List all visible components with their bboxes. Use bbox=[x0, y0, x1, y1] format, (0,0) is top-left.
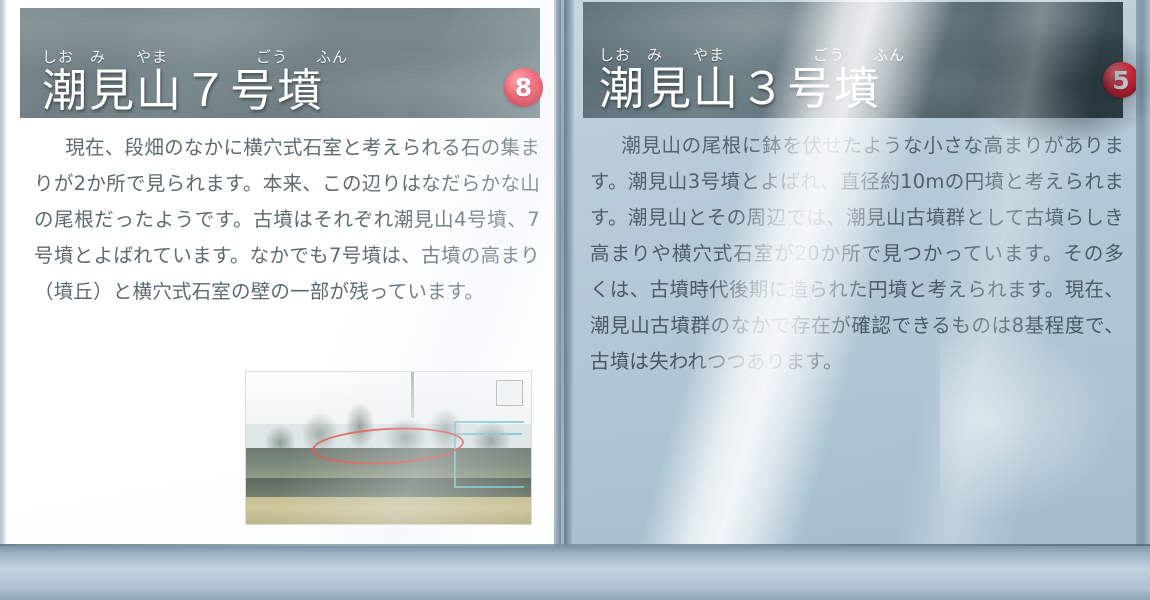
body-paragraph-right: 潮見山の尾根に鉢を伏せたような小さな高まりがあります。潮見山3号墳とよばれ、直径… bbox=[590, 128, 1124, 380]
ruby-shio-left: しお bbox=[42, 46, 90, 67]
signboard-scene: しお み やま ごう ふん 潮見山７号墳 8 現在、段畑のなかに横穴式石室と考え… bbox=[0, 0, 1150, 600]
photo-left-fence-bar bbox=[454, 433, 522, 435]
panel-title-right: 潮見山３号墳 bbox=[599, 66, 913, 112]
ruby-row-right: しお み やま ごう ふん bbox=[599, 45, 913, 65]
ruby-fun-left: ふん bbox=[316, 46, 356, 67]
ruby-gou-right: ごう bbox=[813, 44, 873, 65]
panel-header-right: しお み やま ごう ふん 潮見山３号墳 5 bbox=[583, 2, 1123, 118]
panel-body-right: 潮見山の尾根に鉢を伏せたような小さな高まりがあります。潮見山3号墳とよばれ、直径… bbox=[590, 128, 1124, 380]
ruby-gou-left: ごう bbox=[256, 46, 316, 67]
panel-badge-right: 5 bbox=[1103, 62, 1136, 98]
photo-left-pole bbox=[411, 372, 414, 418]
panel-body-left: 現在、段畑のなかに横穴式石室と考えられる石の集まりが2か所で見られます。本来、こ… bbox=[34, 130, 540, 310]
panel-header-left: しお み やま ごう ふん 潮見山７号墳 8 bbox=[20, 8, 540, 118]
ruby-fun-right: ふん bbox=[873, 44, 913, 65]
ruby-yama-right: やま bbox=[693, 44, 813, 65]
photo-shiomiyama-7 bbox=[246, 372, 531, 524]
panel-badge-left: 8 bbox=[504, 68, 543, 107]
title-block-right: しお み やま ごう ふん 潮見山３号墳 bbox=[599, 45, 913, 112]
ruby-shio-right: しお bbox=[599, 44, 647, 65]
panel-title-left: 潮見山７号墳 bbox=[42, 68, 356, 114]
ruby-mi-right: み bbox=[647, 44, 693, 65]
frame-bottom-rail bbox=[0, 546, 1150, 600]
ruby-row-left: しお み やま ごう ふん bbox=[42, 47, 356, 67]
photo-left-foreground-grass bbox=[246, 497, 531, 524]
panel-shiomiyama-3: しお み やま ごう ふん 潮見山３号墳 5 潮見山の尾根に鉢を伏せたような小さ… bbox=[574, 0, 1136, 546]
body-paragraph-left: 現在、段畑のなかに横穴式石室と考えられる石の集まりが2か所で見られます。本来、こ… bbox=[34, 130, 540, 310]
panel-divider-post bbox=[556, 0, 574, 552]
photo-left-white-board bbox=[497, 381, 523, 405]
title-block-left: しお み やま ごう ふん 潮見山７号墳 bbox=[42, 47, 356, 114]
divider-highlight bbox=[561, 0, 564, 552]
panel-shiomiyama-7: しお み やま ごう ふん 潮見山７号墳 8 現在、段畑のなかに横穴式石室と考え… bbox=[6, 0, 554, 546]
ruby-yama-left: やま bbox=[136, 46, 256, 67]
ruby-mi-left: み bbox=[90, 46, 136, 67]
frame-right-edge bbox=[1136, 0, 1150, 546]
photo-left-fence bbox=[454, 421, 524, 489]
